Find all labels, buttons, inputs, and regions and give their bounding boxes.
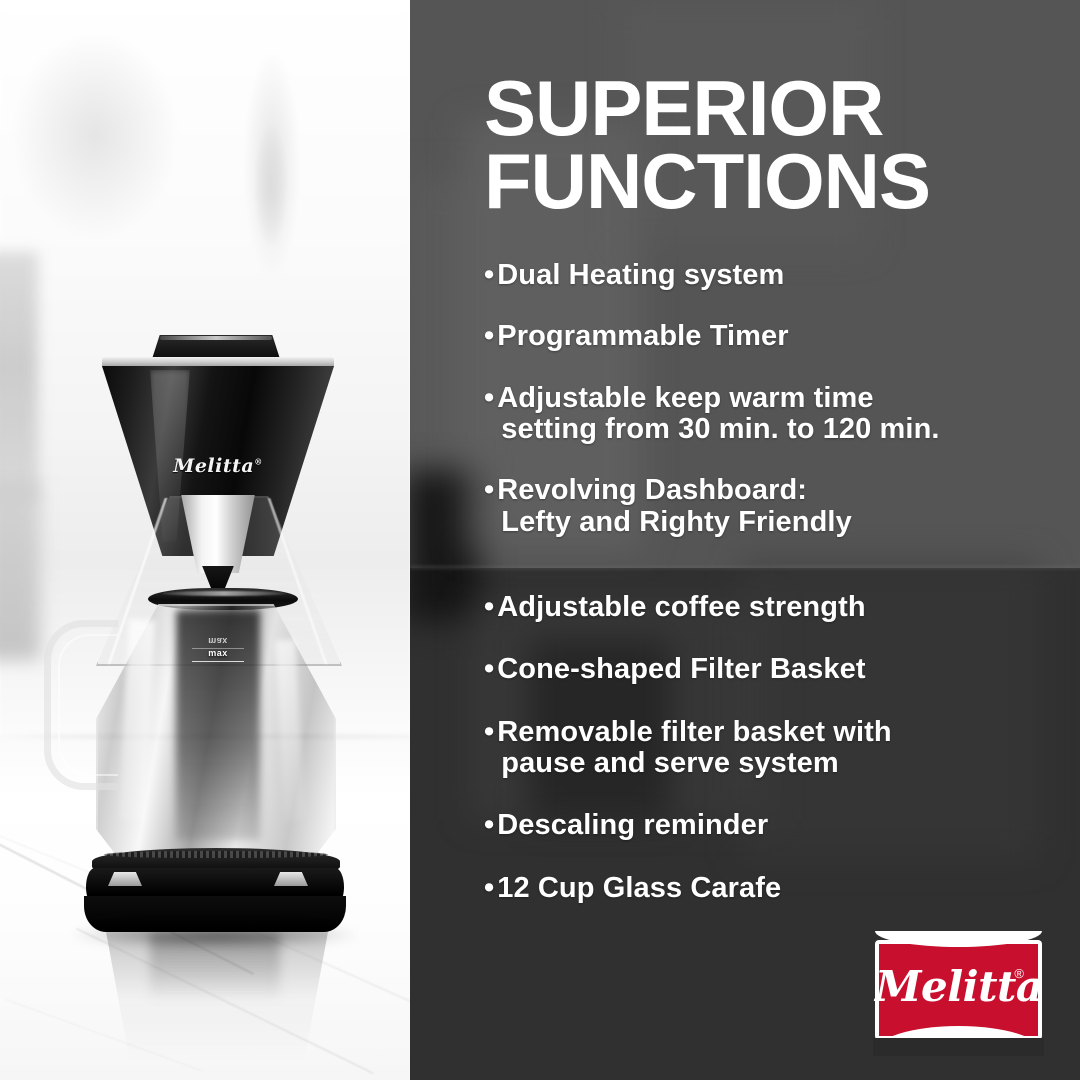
feature-list-secondary: • Adjustable coffee strength • Cone-shap… [484,592,1064,935]
list-item: • Descaling reminder [484,810,1064,841]
logo-bottom-mask [873,1038,1044,1056]
list-item: • Removable filter basket with pause and… [484,717,1064,780]
carafe-max-marking-reflection: max [196,636,240,646]
feature-list-primary: • Dual Heating system • Programmable Tim… [484,260,1064,568]
feature-text: Revolving Dashboard: Lefty and Righty Fr… [497,475,1064,538]
feature-text: Adjustable keep warm time setting from 3… [497,383,1064,446]
list-item: • Dual Heating system [484,260,1064,291]
bullet-icon: • [484,654,494,685]
product-body-logo-text: Melitta [173,455,254,477]
product-body-logo-mark: ® [254,457,263,467]
feature-line-1: Adjustable coffee strength [497,591,865,623]
melitta-brand-logo: Melitta ® [875,940,1042,1040]
base-contact-shadow [70,922,360,948]
bullet-icon: • [484,383,494,446]
feature-text: Removable filter basket with pause and s… [497,717,1064,780]
feature-line-1: Adjustable keep warm time [497,382,873,414]
list-item: • Cone-shaped Filter Basket [484,654,1064,685]
bullet-icon: • [484,873,494,904]
page-title: SUPERIOR FUNCTIONS [484,72,1044,219]
feature-text: Descaling reminder [497,810,1064,841]
feature-text: Dual Heating system [497,260,1064,291]
feature-line-2: pause and serve system [497,748,1064,779]
product-body-logo: Melitta® [102,455,334,477]
registered-trademark-icon: ® [1014,966,1024,981]
product-feature-poster: Melitta® max max [0,0,1080,1080]
feature-line-2: Lefty and Righty Friendly [497,507,1064,538]
list-item: • Adjustable keep warm time setting from… [484,383,1064,446]
bullet-icon: • [484,592,494,623]
feature-line-1: 12 Cup Glass Carafe [497,872,781,904]
feature-line-1: Removable filter basket with [497,716,891,748]
feature-line-2: setting from 30 min. to 120 min. [497,414,1064,445]
feature-line-1: Dual Heating system [497,259,784,291]
carafe-max-rule [192,661,244,662]
feature-text: Adjustable coffee strength [497,592,1064,623]
bullet-icon: • [484,260,494,291]
list-item: • Adjustable coffee strength [484,592,1064,623]
list-item: • Revolving Dashboard: Lefty and Righty … [484,475,1064,538]
bullet-icon: • [484,717,494,780]
list-item: • 12 Cup Glass Carafe [484,873,1064,904]
feature-line-1: Programmable Timer [497,320,788,352]
page-title-line-2: FUNCTIONS [484,137,930,225]
feature-line-1: Revolving Dashboard: [497,474,807,506]
feature-text: 12 Cup Glass Carafe [497,873,1064,904]
base-ridge [104,851,328,858]
carafe-lid-highlight [162,591,286,596]
list-item: • Programmable Timer [484,321,1064,352]
carafe-max-marking: max [196,648,240,659]
bullet-icon: • [484,321,494,352]
feature-text: Programmable Timer [497,321,1064,352]
feature-text: Cone-shaped Filter Basket [497,654,1064,685]
bullet-icon: • [484,475,494,538]
feature-line-1: Descaling reminder [497,809,768,841]
feature-line-1: Cone-shaped Filter Basket [497,653,865,685]
carafe-handle-inner [58,634,118,776]
coffee-maker-product-image: Melitta® max max [0,0,410,1080]
bullet-icon: • [484,810,494,841]
product-photo-panel: Melitta® max max [0,0,410,1080]
water-tank-lid-highlight [160,336,272,340]
features-copy-panel: SUPERIOR FUNCTIONS • Dual Heating system… [410,0,1080,1080]
